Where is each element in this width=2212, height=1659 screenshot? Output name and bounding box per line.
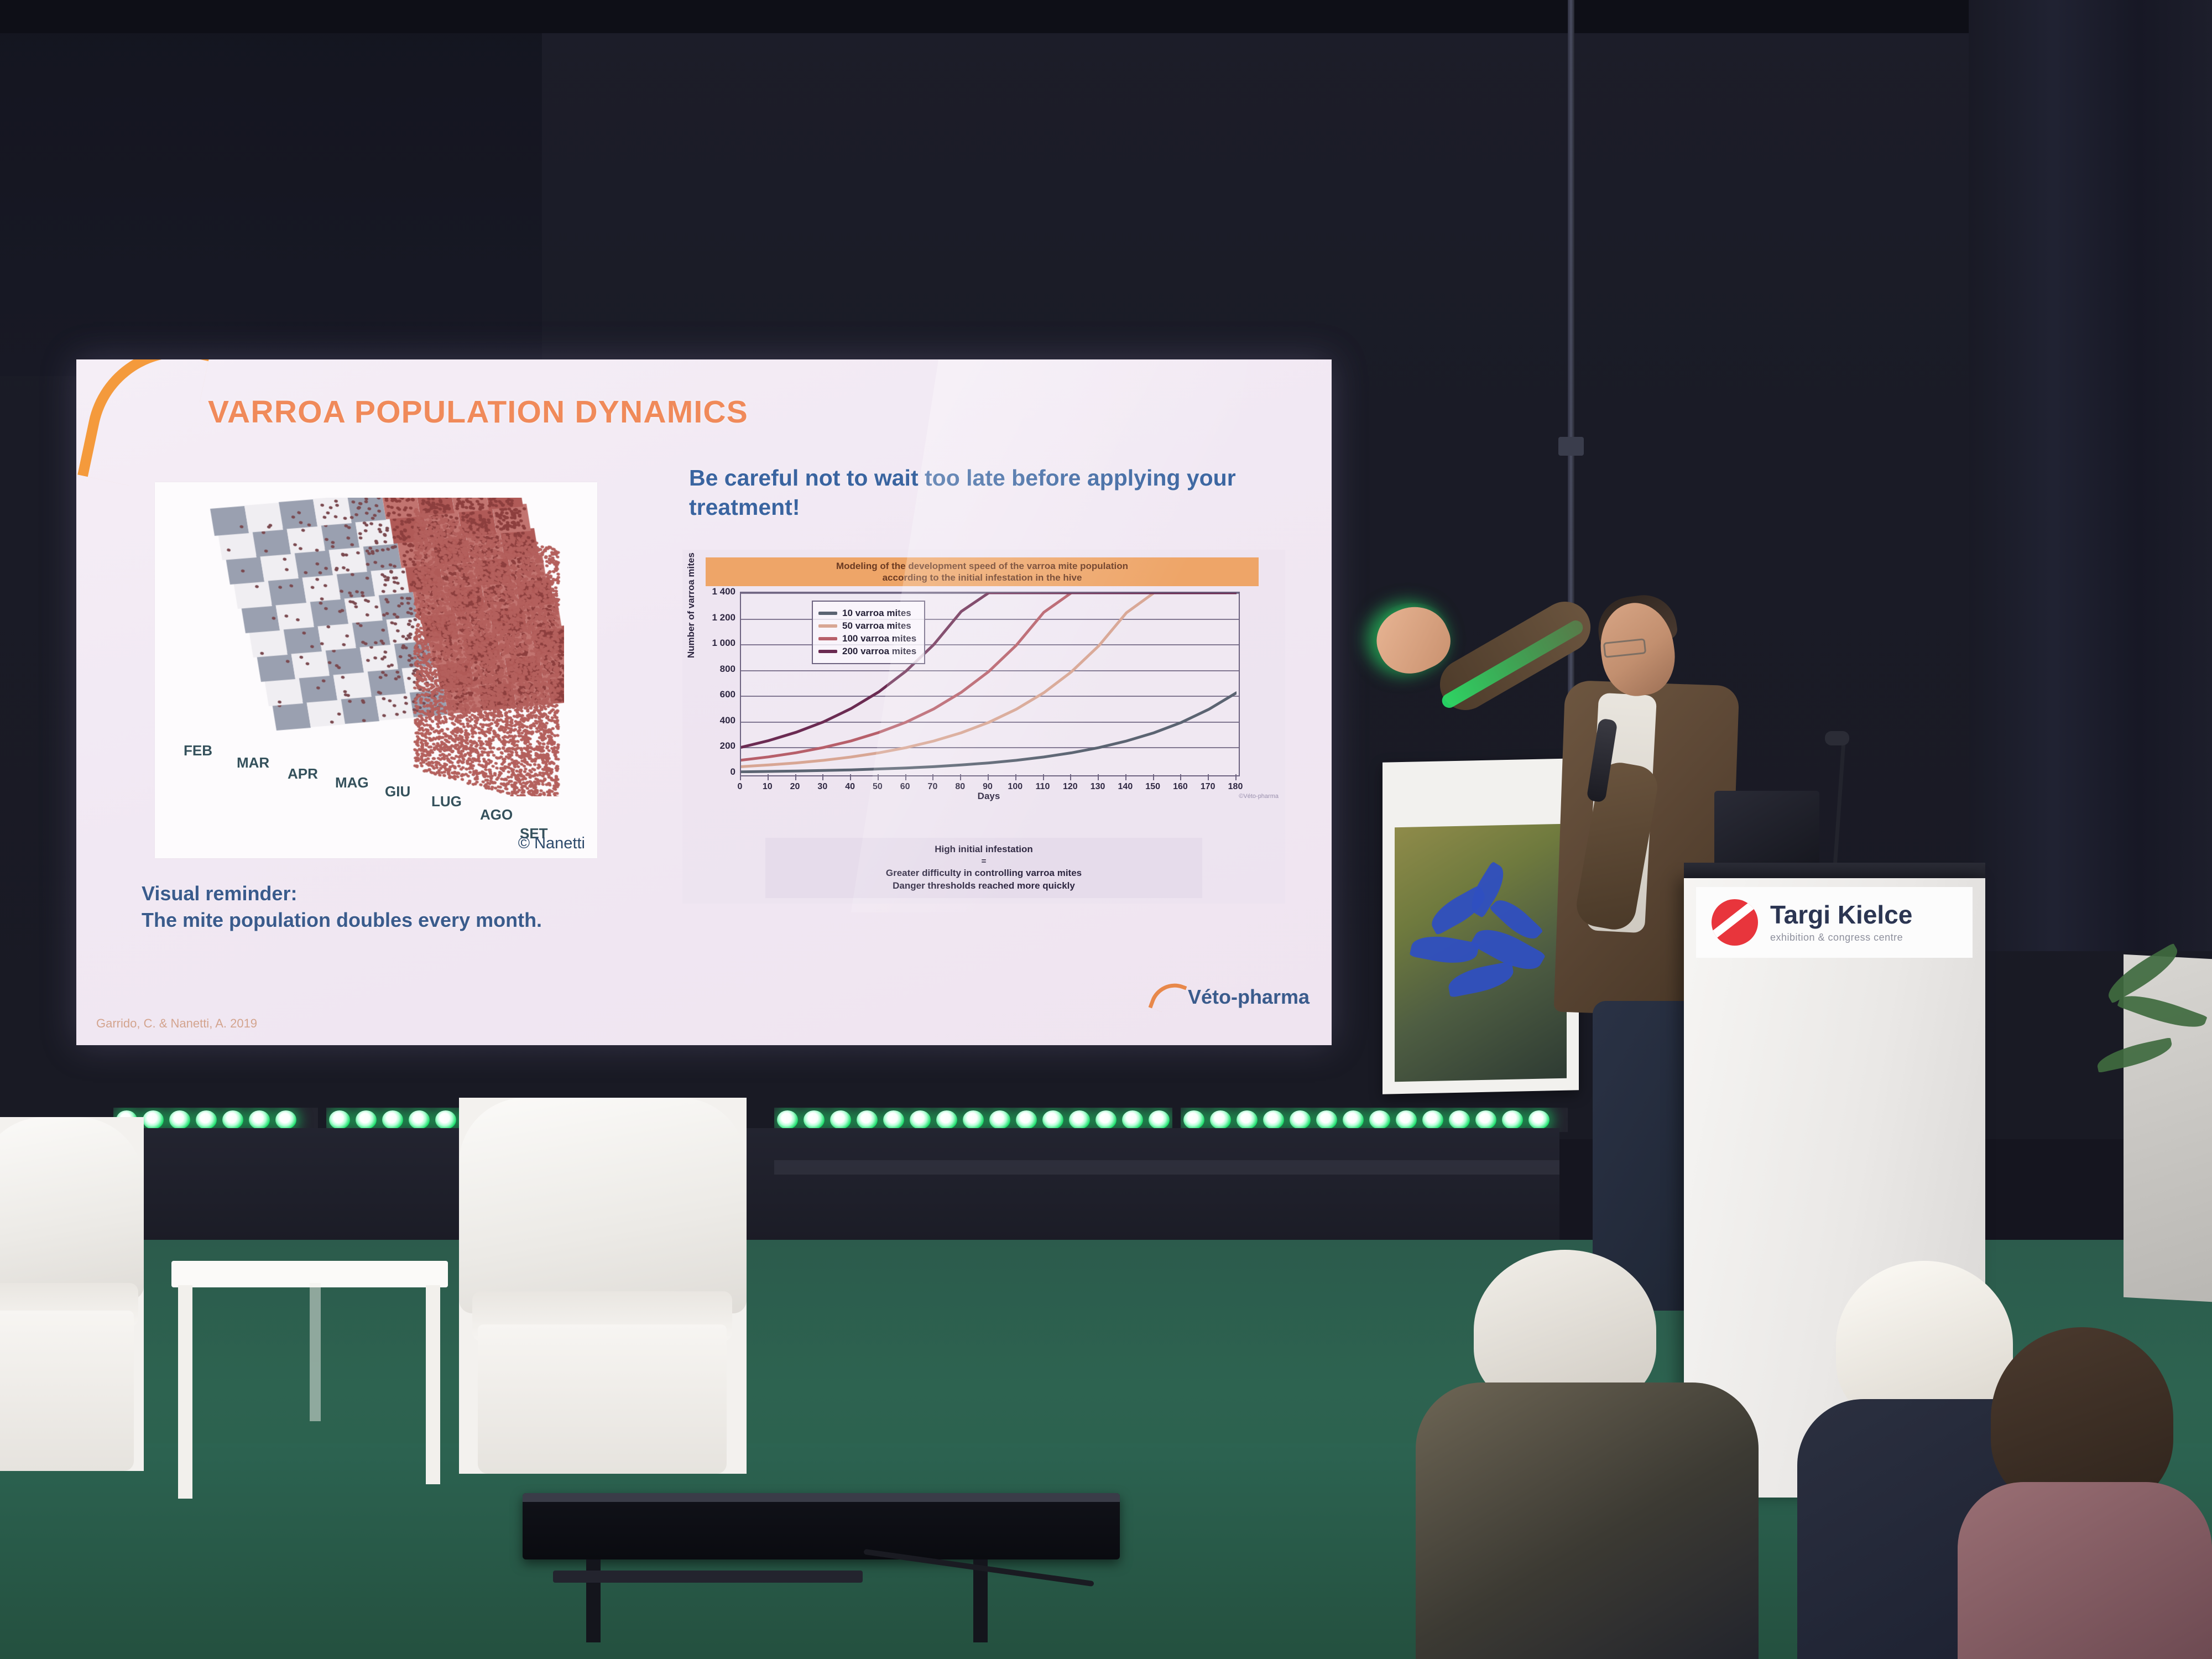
y-tick-label: 1 200 xyxy=(712,612,735,623)
venue-branding-plate: Targi Kielce exhibition & congress centr… xyxy=(1696,887,1973,958)
varroa-growth-chart: Modeling of the development speed of the… xyxy=(682,550,1285,904)
led-light xyxy=(1149,1110,1170,1129)
legend-label: 100 varroa mites xyxy=(842,633,916,644)
reminder-line-2: The mite population doubles every month. xyxy=(142,907,542,933)
led-light xyxy=(1290,1110,1311,1129)
nanetti-mite-growth-image: FEB MAR APR MAG GIU LUG AGO SET © Nanett… xyxy=(155,482,597,858)
x-tick xyxy=(850,774,851,780)
legend-label: 50 varroa mites xyxy=(842,620,911,632)
led-light xyxy=(910,1110,931,1129)
month-label-apr: APR xyxy=(288,765,318,782)
x-axis-label: Days xyxy=(740,791,1238,802)
presentation-slide: VARROA POPULATION DYNAMICS FEB MAR APR M… xyxy=(76,359,1332,1045)
chart-subtitle: according to the initial infestation in … xyxy=(883,572,1082,583)
month-label-mag: MAG xyxy=(335,774,369,791)
y-tick-label: 800 xyxy=(720,664,735,675)
page-title: VARROA POPULATION DYNAMICS xyxy=(208,394,748,430)
led-light xyxy=(1449,1110,1470,1129)
y-tick-label: 200 xyxy=(720,740,735,752)
led-light xyxy=(777,1110,798,1129)
monitor-base xyxy=(553,1571,863,1583)
x-tick xyxy=(1180,774,1181,780)
monitor-leg-right xyxy=(973,1559,988,1642)
led-light xyxy=(1016,1110,1037,1129)
x-tick xyxy=(1153,774,1154,780)
conference-photo-scene: VARROA POPULATION DYNAMICS FEB MAR APR M… xyxy=(0,0,2212,1659)
led-light xyxy=(1183,1110,1204,1129)
legend-swatch-icon xyxy=(818,637,837,640)
chart-title-banner: Modeling of the development speed of the… xyxy=(706,557,1259,586)
reminder-line-1: Visual reminder: xyxy=(142,880,542,907)
y-axis-label: Number of varroa mites xyxy=(686,552,697,658)
x-tick xyxy=(1098,774,1099,780)
led-light xyxy=(883,1110,904,1129)
slide-citation: Garrido, C. & Nanetti, A. 2019 xyxy=(96,1016,257,1031)
image-credit: © Nanetti xyxy=(518,834,585,853)
led-light xyxy=(1475,1110,1496,1129)
x-tick xyxy=(1125,774,1126,780)
stage-riser xyxy=(88,1128,1559,1241)
note-line-1: High initial infestation xyxy=(935,844,1033,854)
y-tick-label: 600 xyxy=(720,689,735,700)
veto-brand-text: Véto-pharma xyxy=(1188,985,1310,1009)
chart-legend: 10 varroa mites50 varroa mites100 varroa… xyxy=(812,601,925,664)
venue-tagline: exhibition & congress centre xyxy=(1770,932,1912,943)
legend-item-1: 50 varroa mites xyxy=(818,620,916,632)
checkerboard-illustration xyxy=(177,498,564,796)
led-light xyxy=(196,1110,217,1129)
x-tick xyxy=(1015,774,1016,780)
led-light xyxy=(1422,1110,1443,1129)
led-light xyxy=(1369,1110,1390,1129)
legend-swatch-icon xyxy=(818,612,837,615)
x-tick xyxy=(878,774,879,780)
x-tick xyxy=(740,774,741,780)
legend-item-0: 10 varroa mites xyxy=(818,608,916,619)
month-label-mar: MAR xyxy=(237,754,269,771)
month-label-feb: FEB xyxy=(184,742,212,759)
floor-monitor xyxy=(523,1493,1120,1559)
confidence-monitor xyxy=(1714,791,1819,868)
cornflower-artwork xyxy=(1395,824,1567,1082)
led-light xyxy=(1396,1110,1417,1129)
y-tick-label: 400 xyxy=(720,715,735,726)
x-tick xyxy=(822,774,823,780)
veto-arc-icon xyxy=(1148,977,1187,1018)
x-tick xyxy=(1235,774,1237,780)
legend-item-2: 100 varroa mites xyxy=(818,633,916,644)
led-light xyxy=(1502,1110,1523,1129)
led-light xyxy=(435,1110,456,1129)
venue-name: Targi Kielce xyxy=(1770,902,1912,927)
x-tick xyxy=(1070,774,1071,780)
month-label-lug: LUG xyxy=(431,793,462,810)
visual-reminder-text: Visual reminder: The mite population dou… xyxy=(142,880,542,933)
led-light xyxy=(936,1110,957,1129)
led-light xyxy=(222,1110,243,1129)
led-light xyxy=(804,1110,825,1129)
led-light xyxy=(963,1110,984,1129)
led-light xyxy=(1316,1110,1337,1129)
y-tick-label: 1 400 xyxy=(712,586,735,597)
led-light xyxy=(169,1110,190,1129)
slide-headline: Be careful not to wait too late before a… xyxy=(689,463,1253,523)
led-light xyxy=(1263,1110,1284,1129)
legend-label: 10 varroa mites xyxy=(842,608,911,619)
projection-screen: VARROA POPULATION DYNAMICS FEB MAR APR M… xyxy=(76,359,1332,1045)
targi-kielce-sphere-icon xyxy=(1712,899,1758,946)
x-tick xyxy=(795,774,796,780)
led-light xyxy=(857,1110,878,1129)
x-tick xyxy=(932,774,933,780)
led-light xyxy=(275,1110,296,1129)
stage-riser-lip xyxy=(774,1160,1559,1175)
led-light xyxy=(143,1110,164,1129)
y-axis-ticks: 02004006008001 0001 2001 400 xyxy=(696,592,735,774)
potted-plant xyxy=(2096,940,2212,1172)
armchair-left xyxy=(0,1117,144,1471)
note-equals: = xyxy=(765,856,1202,867)
x-tick xyxy=(1043,774,1044,780)
truss-clamp xyxy=(1558,437,1584,456)
plot-box: 10 varroa mites50 varroa mites100 varroa… xyxy=(740,592,1240,776)
framed-cornflower-photo xyxy=(1383,758,1579,1094)
chart-conclusion-note: High initial infestation = Greater diffi… xyxy=(765,838,1202,898)
veto-pharma-logo: Véto-pharma xyxy=(1153,980,1310,1013)
led-light xyxy=(1042,1110,1063,1129)
note-line-3: Danger thresholds reached more quickly xyxy=(893,880,1075,891)
chart-title: Modeling of the development speed of the… xyxy=(836,560,1128,572)
armchair-right xyxy=(459,1098,747,1474)
x-tick xyxy=(1208,774,1209,780)
led-light xyxy=(382,1110,403,1129)
chart-watermark: ©Véto-pharma xyxy=(1239,793,1279,800)
legend-label: 200 varroa mites xyxy=(842,646,916,657)
y-tick-label: 0 xyxy=(731,766,735,778)
led-light xyxy=(1237,1110,1258,1129)
wall-shadow-left xyxy=(0,0,542,376)
plot-area: Number of varroa mites 02004006008001 00… xyxy=(682,592,1285,824)
legend-item-3: 200 varroa mites xyxy=(818,646,916,657)
x-tick xyxy=(768,774,769,780)
ceiling-band xyxy=(0,0,2212,33)
note-line-2: Greater difficulty in controlling varroa… xyxy=(886,868,1082,878)
led-light xyxy=(830,1110,851,1129)
x-axis: 0102030405060708090100110120130140150160… xyxy=(740,774,1238,775)
led-light xyxy=(1528,1110,1550,1129)
y-tick-label: 1 000 xyxy=(712,638,735,649)
curtain-right xyxy=(1969,0,2212,951)
x-tick xyxy=(960,774,961,780)
led-light xyxy=(329,1110,350,1129)
led-light xyxy=(249,1110,270,1129)
x-tick xyxy=(988,774,989,780)
legend-swatch-icon xyxy=(818,650,837,653)
led-light xyxy=(1069,1110,1090,1129)
microphone-head-icon xyxy=(1825,731,1849,745)
side-table xyxy=(171,1261,448,1499)
led-light xyxy=(1095,1110,1117,1129)
led-light xyxy=(1210,1110,1231,1129)
month-label-ago: AGO xyxy=(480,806,513,823)
led-light xyxy=(1122,1110,1143,1129)
month-label-giu: GIU xyxy=(385,783,410,800)
led-light xyxy=(989,1110,1010,1129)
led-light xyxy=(409,1110,430,1129)
x-tick xyxy=(905,774,906,780)
led-light xyxy=(356,1110,377,1129)
orange-arc-decoration xyxy=(77,359,211,497)
led-light xyxy=(1343,1110,1364,1129)
legend-swatch-icon xyxy=(818,624,837,628)
